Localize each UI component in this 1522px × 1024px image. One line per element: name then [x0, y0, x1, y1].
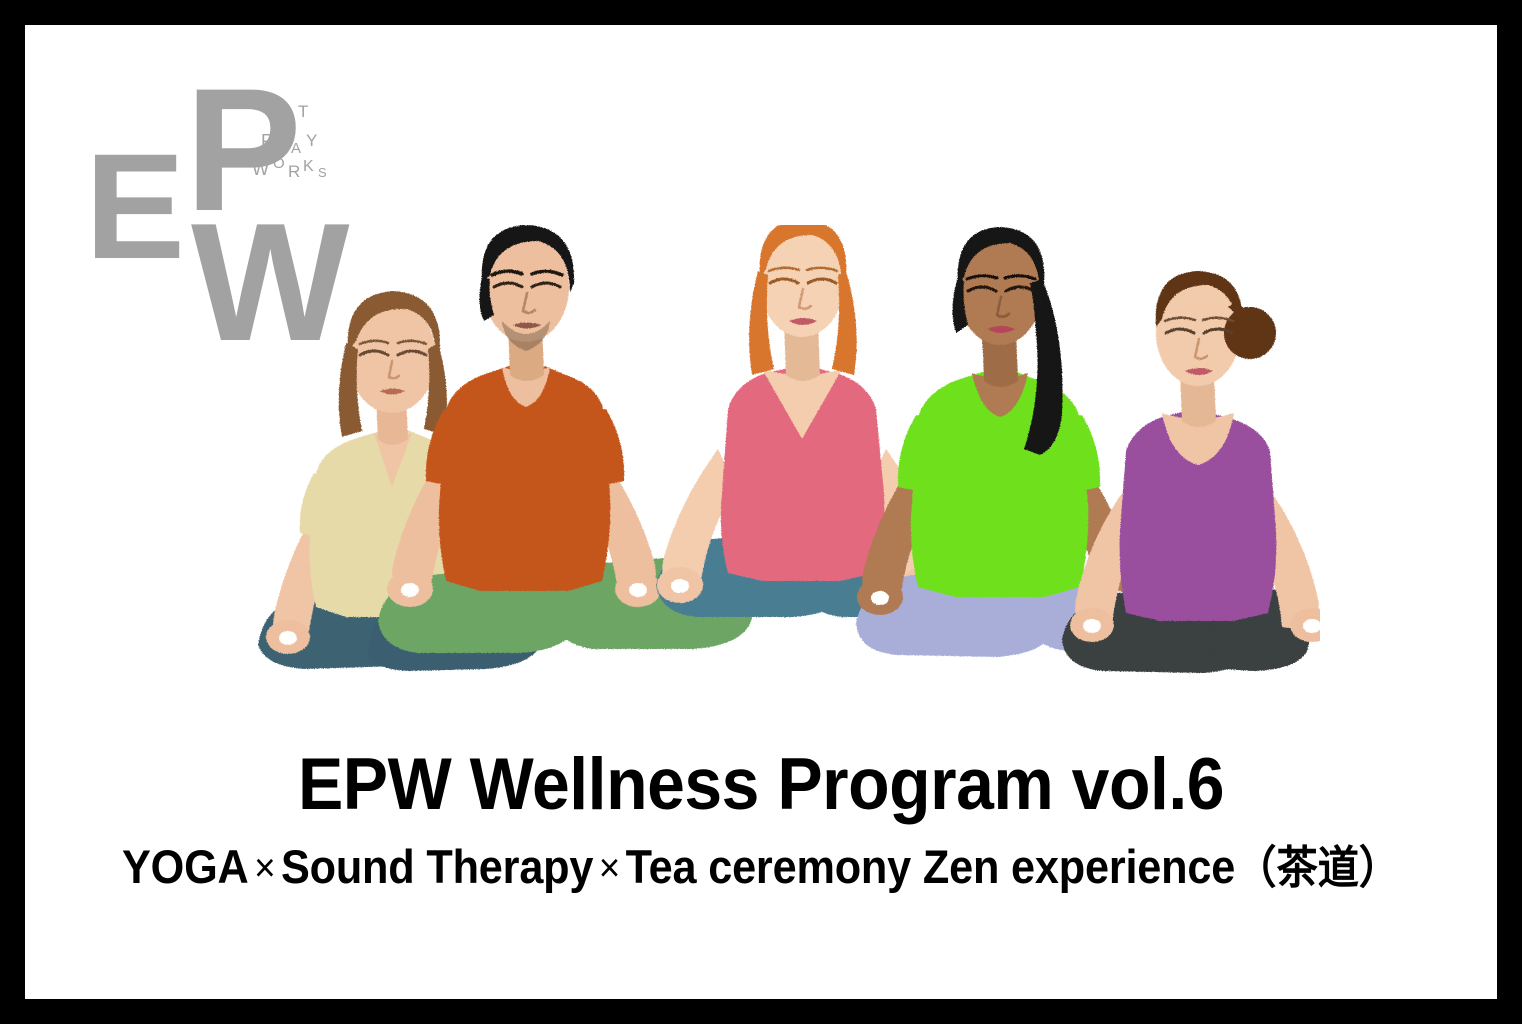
- logo-micro-letter-11: S: [318, 166, 327, 179]
- page-title: EPW Wellness Program vol.6: [77, 747, 1446, 824]
- meditation-illustration: [250, 225, 1320, 695]
- logo-micro-letter-7: W: [252, 160, 269, 178]
- logo-micro-letter-9: R: [288, 163, 300, 180]
- page-subtitle: YOGA×Sound Therapy×Tea ceremony Zen expe…: [84, 839, 1438, 895]
- logo-micro-letter-1: A: [284, 111, 295, 127]
- poster-content: E P W EATPLAYWORKS: [25, 25, 1497, 999]
- subtitle-part-tea-ceremony: Tea ceremony Zen experience: [626, 840, 1236, 893]
- meditation-illustration-svg: [250, 225, 1320, 695]
- logo-letter-e: E: [85, 131, 183, 281]
- subtitle-separator-2: ×: [593, 846, 625, 890]
- subtitle-part-sound-therapy: Sound Therapy: [281, 840, 593, 893]
- logo-micro-letter-0: E: [269, 105, 280, 122]
- poster-frame: E P W EATPLAYWORKS: [0, 0, 1522, 1024]
- subtitle-part-yoga: YOGA: [122, 840, 249, 893]
- subtitle-part-japanese: （茶道）: [1235, 841, 1400, 894]
- logo-micro-letter-6: Y: [306, 132, 317, 149]
- logo-micro-letter-8: O: [273, 156, 285, 171]
- logo-micro-letter-10: K: [303, 159, 314, 175]
- logo-tagline-eat-play-works: EATPLAYWORKS: [261, 105, 381, 225]
- logo-micro-letter-3: P: [261, 132, 273, 150]
- logo-micro-letter-2: T: [298, 103, 308, 120]
- logo-micro-letter-4: L: [277, 135, 286, 151]
- logo-micro-letter-5: A: [291, 141, 301, 156]
- subtitle-separator-1: ×: [249, 846, 281, 890]
- figure-right: [1062, 271, 1320, 673]
